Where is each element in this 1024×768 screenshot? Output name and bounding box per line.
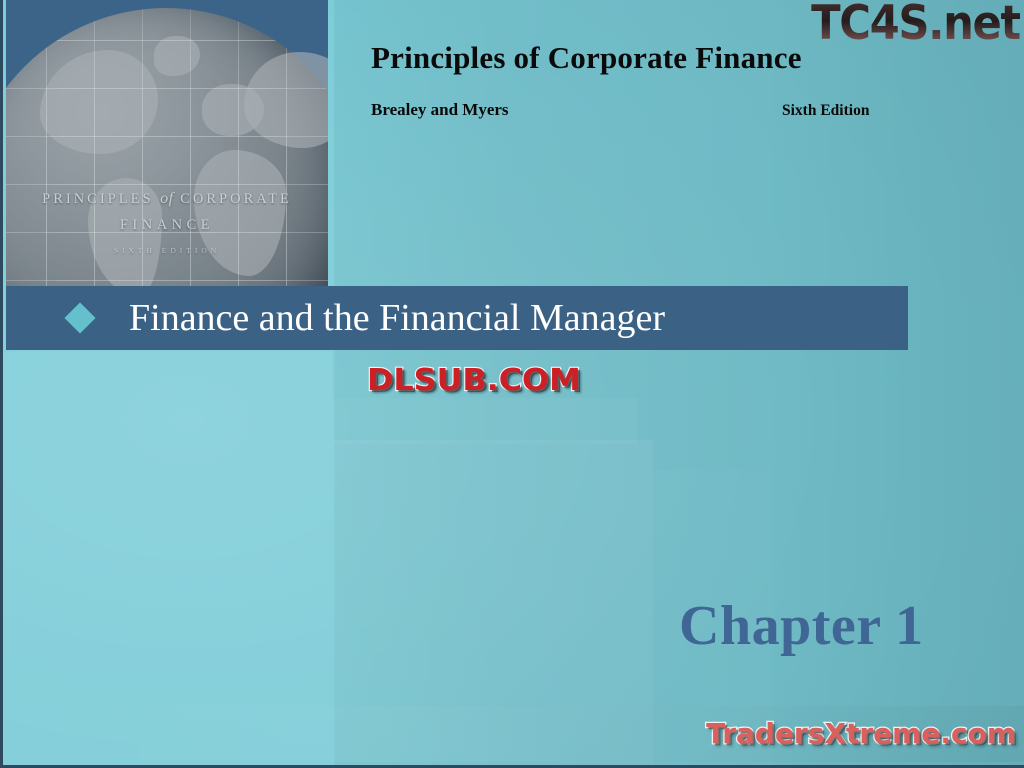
diamond-bullet-icon — [64, 302, 95, 333]
slide-title-bar: Finance and the Financial Manager — [6, 286, 908, 350]
globe-graticule — [6, 8, 328, 286]
watermark-dlsub: DLSUB.COM — [367, 363, 581, 398]
book-title: Principles of Corporate Finance — [371, 40, 802, 76]
slide-title: Finance and the Financial Manager — [129, 299, 665, 337]
book-authors: Brealey and Myers — [371, 100, 509, 120]
book-edition: Sixth Edition — [782, 102, 869, 120]
watermark-tradersxtreme: TradersXtreme.com — [706, 717, 1016, 750]
presentation-slide: PRINCIPLES of CORPORATE FINANCE SIXTH ED… — [0, 0, 1024, 768]
chapter-label: Chapter 1 — [679, 594, 924, 658]
book-cover-image: PRINCIPLES of CORPORATE FINANCE SIXTH ED… — [6, 0, 328, 286]
watermark-tc4s: TC4S.net — [811, 0, 1020, 51]
